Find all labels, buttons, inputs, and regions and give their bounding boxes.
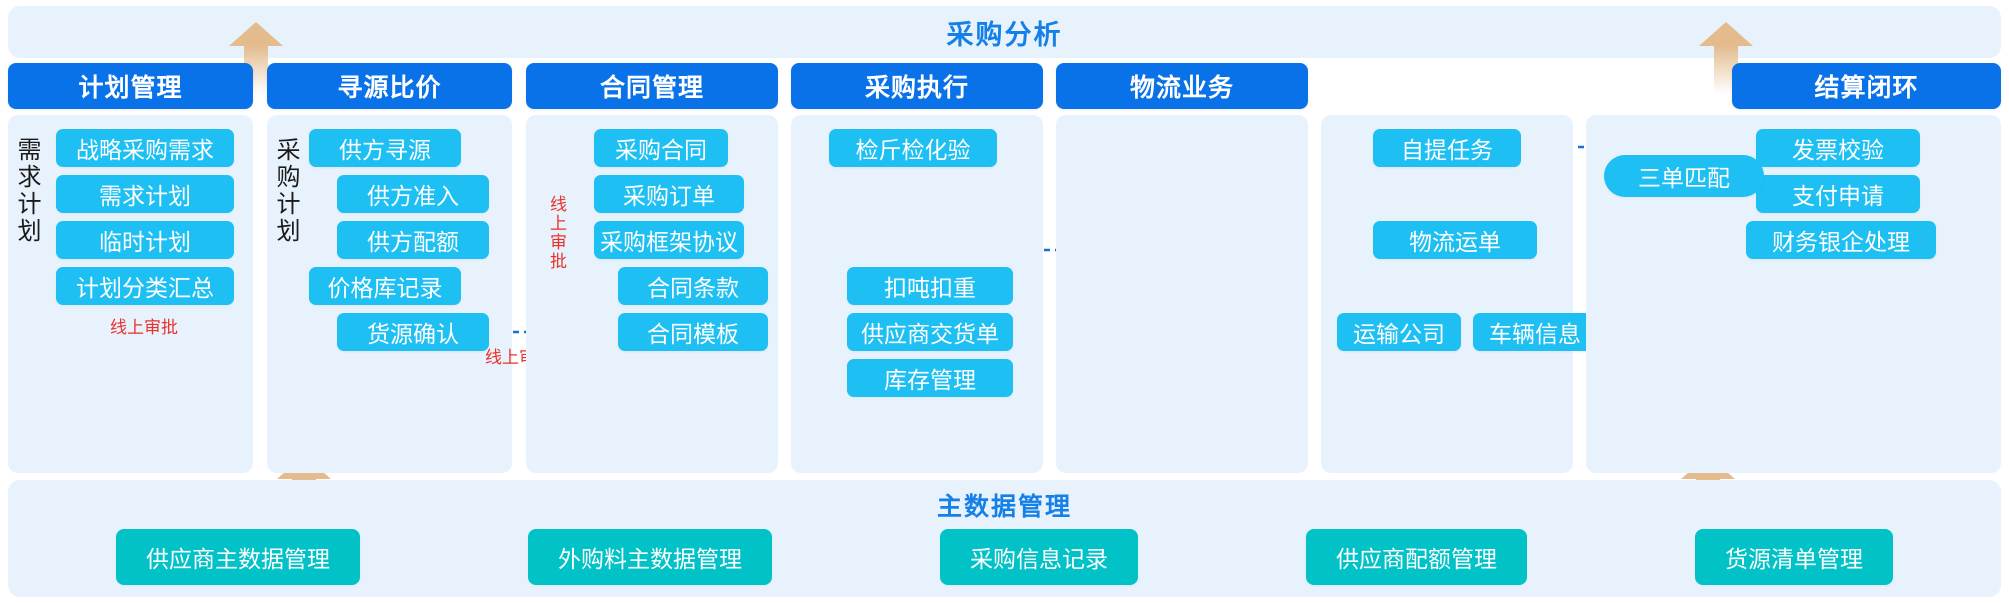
- node-purchase-contract[interactable]: 采购合同: [594, 129, 728, 167]
- column-body-plan-management: 需求计划 战略采购需求 需求计划 临时计划 计划分类汇总 线上审批: [8, 115, 253, 473]
- column-purchase-execution: 采购执行 检斤检化验 扣吨扣重 供应商交货单 库存管理: [791, 63, 1043, 473]
- column-logistics-business: 物流业务: [1056, 63, 1308, 473]
- node-vehicle-info[interactable]: 车辆信息: [1473, 313, 1597, 351]
- column-header-contract-management[interactable]: 合同管理: [526, 63, 778, 109]
- node-weighing-inspection[interactable]: 检斤检化验: [829, 129, 997, 167]
- node-self-pickup-task[interactable]: 自提任务: [1373, 129, 1521, 167]
- chip-purchase-info-record[interactable]: 采购信息记录: [940, 529, 1138, 585]
- node-supplier-sourcing[interactable]: 供方寻源: [309, 129, 461, 167]
- node-transport-company[interactable]: 运输公司: [1337, 313, 1461, 351]
- node-purchase-framework-agreement[interactable]: 采购框架协议: [594, 221, 744, 259]
- column-body-logistics-business: [1056, 115, 1308, 473]
- column-settlement: 结算闭环 发票校验 支付申请 财务银企处理: [1732, 63, 2001, 473]
- node-supplier-quota[interactable]: 供方配额: [337, 221, 489, 259]
- side-label-demand-plan: 需求计划: [14, 137, 38, 245]
- node-temporary-plan[interactable]: 临时计划: [56, 221, 234, 259]
- column-sourcing-comparison: 寻源比价 采购计划 供方寻源 供方准入 供方配额 价格库记录 货源确认 线上审批: [267, 63, 512, 473]
- column-body-contract-management: 采购合同 采购订单 采购框架协议 合同条款 合同模板 线上审批: [526, 115, 778, 473]
- node-supplier-access[interactable]: 供方准入: [337, 175, 489, 213]
- node-supplier-delivery-note[interactable]: 供应商交货单: [847, 313, 1013, 351]
- node-contract-template[interactable]: 合同模板: [618, 313, 768, 351]
- column-body-settlement: 发票校验 支付申请 财务银企处理: [1732, 115, 2001, 473]
- bottom-banner: 主数据管理 供应商主数据管理 外购料主数据管理 采购信息记录 供应商配额管理 货…: [8, 480, 2001, 597]
- node-invoice-verification[interactable]: 发票校验: [1756, 129, 1920, 167]
- note-online-approval-1: 线上审批: [110, 313, 178, 338]
- node-payment-application[interactable]: 支付申请: [1756, 175, 1920, 213]
- node-strategic-purchase-demand[interactable]: 战略采购需求: [56, 129, 234, 167]
- column-body-logistics-panel: 自提任务 物流运单 运输公司 车辆信息: [1321, 115, 1573, 473]
- chip-source-list-management[interactable]: 货源清单管理: [1695, 529, 1893, 585]
- column-body-purchase-execution: 检斤检化验 扣吨扣重 供应商交货单 库存管理: [791, 115, 1043, 473]
- note-online-approval-3: 线上审批: [548, 195, 565, 271]
- procurement-flow-diagram: 采购分析: [0, 0, 2009, 603]
- column-body-sourcing-comparison: 采购计划 供方寻源 供方准入 供方配额 价格库记录 货源确认 线上审批: [267, 115, 512, 473]
- node-three-way-match[interactable]: 三单匹配: [1604, 155, 1764, 197]
- column-header-sourcing-comparison[interactable]: 寻源比价: [267, 63, 512, 109]
- node-logistics-waybill[interactable]: 物流运单: [1373, 221, 1537, 259]
- node-contract-terms[interactable]: 合同条款: [618, 267, 768, 305]
- side-label-purchase-plan: 采购计划: [273, 137, 297, 245]
- chip-supplier-quota-management[interactable]: 供应商配额管理: [1306, 529, 1527, 585]
- column-header-logistics-business[interactable]: 物流业务: [1056, 63, 1308, 109]
- node-demand-plan[interactable]: 需求计划: [56, 175, 234, 213]
- column-header-settlement[interactable]: 结算闭环: [1732, 63, 2001, 109]
- node-purchase-order[interactable]: 采购订单: [594, 175, 744, 213]
- chip-purchased-material-master-data[interactable]: 外购料主数据管理: [528, 529, 772, 585]
- node-deduct-weight[interactable]: 扣吨扣重: [847, 267, 1013, 305]
- master-data-chip-row: 供应商主数据管理 外购料主数据管理 采购信息记录 供应商配额管理 货源清单管理: [8, 532, 2001, 582]
- column-plan-management: 计划管理 需求计划 战略采购需求 需求计划 临时计划 计划分类汇总 线上审批: [8, 63, 253, 473]
- node-plan-category-summary[interactable]: 计划分类汇总: [56, 267, 234, 305]
- column-header-plan-management[interactable]: 计划管理: [8, 63, 253, 109]
- bottom-banner-title: 主数据管理: [8, 485, 2001, 525]
- node-price-library-record[interactable]: 价格库记录: [309, 267, 461, 305]
- column-header-purchase-execution[interactable]: 采购执行: [791, 63, 1043, 109]
- chip-supplier-master-data[interactable]: 供应商主数据管理: [116, 529, 360, 585]
- node-source-confirmation[interactable]: 货源确认: [337, 313, 489, 351]
- node-inventory-management[interactable]: 库存管理: [847, 359, 1013, 397]
- column-logistics-panel: 物流业务 自提任务 物流运单 运输公司 车辆信息: [1321, 63, 1573, 473]
- node-finance-bank-processing[interactable]: 财务银企处理: [1746, 221, 1936, 259]
- column-contract-management: 合同管理 采购合同 采购订单 采购框架协议 合同条款 合同模板 线上审批: [526, 63, 778, 473]
